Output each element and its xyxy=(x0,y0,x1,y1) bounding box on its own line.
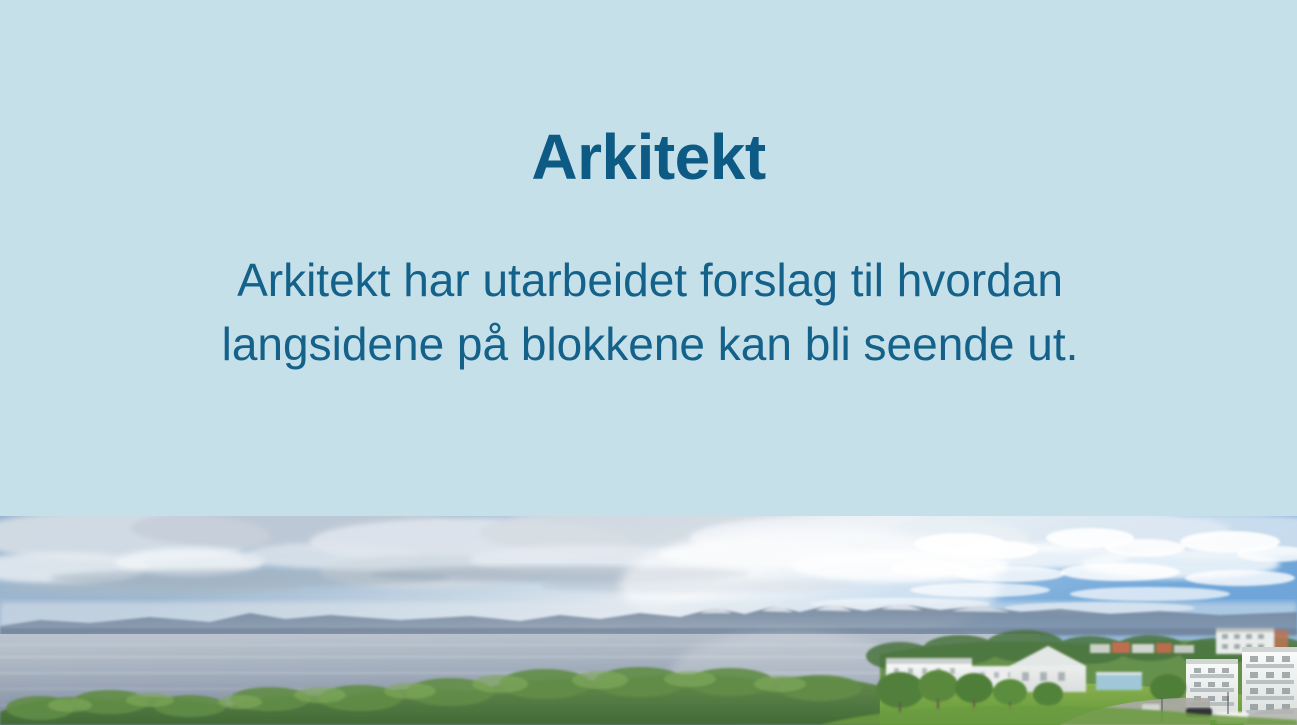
panorama-photo xyxy=(0,516,1297,725)
body-line-2: langsidene på blokkene kan bli seende ut… xyxy=(150,312,1150,376)
page-title: Arkitekt xyxy=(0,124,1297,191)
slide-body-text: Arkitekt har utarbeidet forslag til hvor… xyxy=(150,248,1150,377)
slide-canvas: Arkitekt Arkitekt har utarbeidet forslag… xyxy=(0,0,1297,725)
body-line-1: Arkitekt har utarbeidet forslag til hvor… xyxy=(150,248,1150,312)
panorama-photo-illustration xyxy=(0,516,1297,725)
slide-text-area: Arkitekt Arkitekt har utarbeidet forslag… xyxy=(0,0,1297,516)
